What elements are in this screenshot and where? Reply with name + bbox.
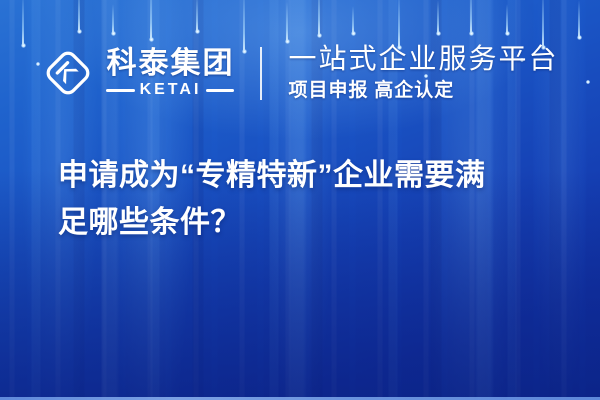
meteor-streak xyxy=(470,0,472,34)
brand-name-en: KETAI xyxy=(140,82,202,98)
meteor-streak xyxy=(506,4,508,34)
promo-banner: 科泰集团 KETAI 一站式企业服务平台 项目申报 高企认定 申请成为“专精特新… xyxy=(0,0,600,400)
headline: 申请成为“专精特新”企业需要满 足哪些条件？ xyxy=(58,152,570,247)
ketai-diamond-logo-icon xyxy=(41,46,95,100)
meteor-streak xyxy=(78,0,80,32)
meteor-streak xyxy=(318,0,320,36)
headline-line-2: 足哪些条件？ xyxy=(58,199,570,246)
meteor-streak xyxy=(437,0,439,34)
brand-rule-left xyxy=(106,89,134,92)
brand-lockup: 科泰集团 KETAI xyxy=(41,46,260,100)
meteor-streak xyxy=(150,0,152,40)
meteor-streak xyxy=(352,6,354,34)
banner-header: 科泰集团 KETAI 一站式企业服务平台 项目申报 高企认定 xyxy=(0,36,600,110)
brand-name-cn: 科泰集团 xyxy=(106,48,234,80)
brand-name-en-row: KETAI xyxy=(106,82,234,98)
brand-words: 科泰集团 KETAI xyxy=(106,48,234,98)
brand-rule-right xyxy=(206,89,234,92)
meteor-streak xyxy=(578,0,580,38)
tagline-block: 一站式企业服务平台 项目申报 高企认定 xyxy=(262,43,558,103)
tagline-sub: 项目申报 高企认定 xyxy=(288,80,558,103)
tagline-main: 一站式企业服务平台 xyxy=(288,43,558,75)
meteor-streak xyxy=(112,4,114,34)
meteor-streak xyxy=(196,0,198,32)
headline-line-1: 申请成为“专精特新”企业需要满 xyxy=(58,152,570,199)
